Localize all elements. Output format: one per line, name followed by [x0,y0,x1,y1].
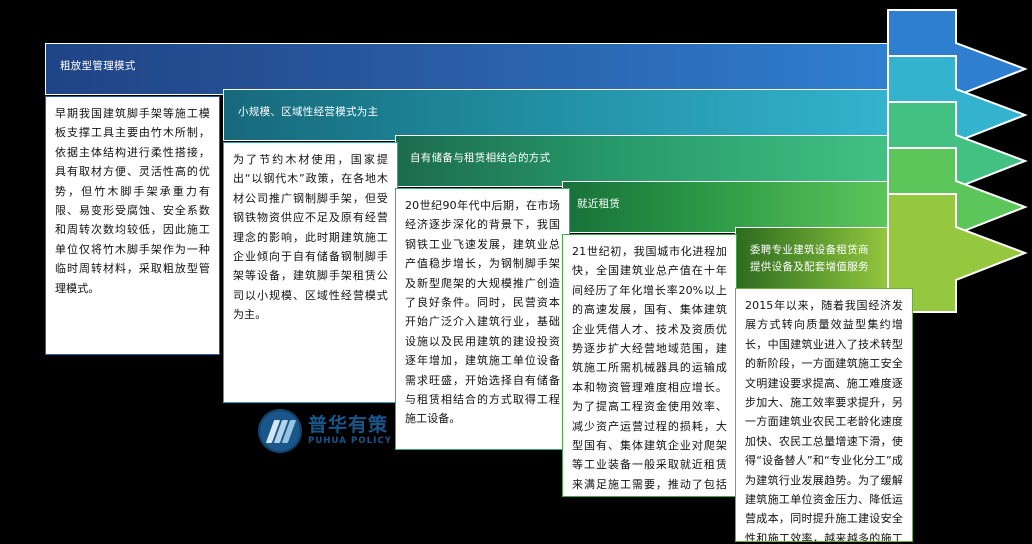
process-band-3-title: 自有储备与租赁相结合的方式 [410,150,871,167]
watermark-name-cn: 普华有策 [308,415,392,436]
stage-3-body: 20世纪90年代中后期，在市场经济逐步深化的背景下，我国钢铁工业飞速发展，建筑业… [405,196,560,429]
chevron-process-diagram: 粗放型管理模式 小规模、区域性经营模式为主 自有储备与租赁相结合的方式 就近租赁… [0,0,1032,544]
watermark-logo: 普华有策 PUHUA POLICY [258,406,398,456]
stage-1-text-box[interactable]: 早期我国建筑脚手架等施工模板支撑工具主要由竹木所制，依据主体结构进行柔性搭接，具… [45,96,220,355]
watermark-text: 普华有策 PUHUA POLICY [308,415,392,447]
stage-3-text-box[interactable]: 20世纪90年代中后期，在市场经济逐步深化的背景下，我国钢铁工业飞速发展，建筑业… [395,188,570,450]
stage-1-body: 早期我国建筑脚手架等施工模板支撑工具主要由竹木所制，依据主体结构进行柔性搭接，具… [55,104,210,298]
process-band-4-title: 就近租赁 [577,196,871,213]
process-band-4[interactable]: 就近租赁 [562,181,890,233]
process-band-3[interactable]: 自有储备与租赁相结合的方式 [395,135,890,187]
stage-5-text-box[interactable]: 2015年以来，随着我国经济发展方式转向质量效益型集约增长，中国建筑业进入了技术… [735,288,913,542]
stage-4-body: 21世纪初，我国城市化进程加快，全国建筑业总产值在十年间经历了年化增长率20%以… [572,242,727,497]
stage-5-body: 2015年以来，随着我国经济发展方式转向质量效益型集约增长，中国建筑业进入了技术… [745,296,903,542]
process-band-1[interactable]: 粗放型管理模式 [45,43,890,95]
three-stripes-circle-logo-icon [258,409,302,453]
stage-2-body: 为了节约木材使用，国家提出“以钢代木”政策，在各地木材公司推广钢制脚手架，但受钢… [233,150,388,325]
process-band-5-title: 委聘专业建筑设备租赁商提供设备及配套增值服务 [750,242,871,276]
watermark-name-en: PUHUA POLICY [308,436,392,447]
process-band-5[interactable]: 委聘专业建筑设备租赁商提供设备及配套增值服务 [735,227,890,289]
stage-4-text-box[interactable]: 21世纪初，我国城市化进程加快，全国建筑业总产值在十年间经历了年化增长率20%以… [562,234,737,497]
stage-2-text-box[interactable]: 为了节约木材使用，国家提出“以钢代木”政策，在各地木材公司推广钢制脚手架，但受钢… [223,142,398,403]
process-band-2[interactable]: 小规模、区域性经营模式为主 [223,89,890,141]
process-band-1-title: 粗放型管理模式 [60,58,871,75]
process-band-2-title: 小规模、区域性经营模式为主 [238,104,871,121]
